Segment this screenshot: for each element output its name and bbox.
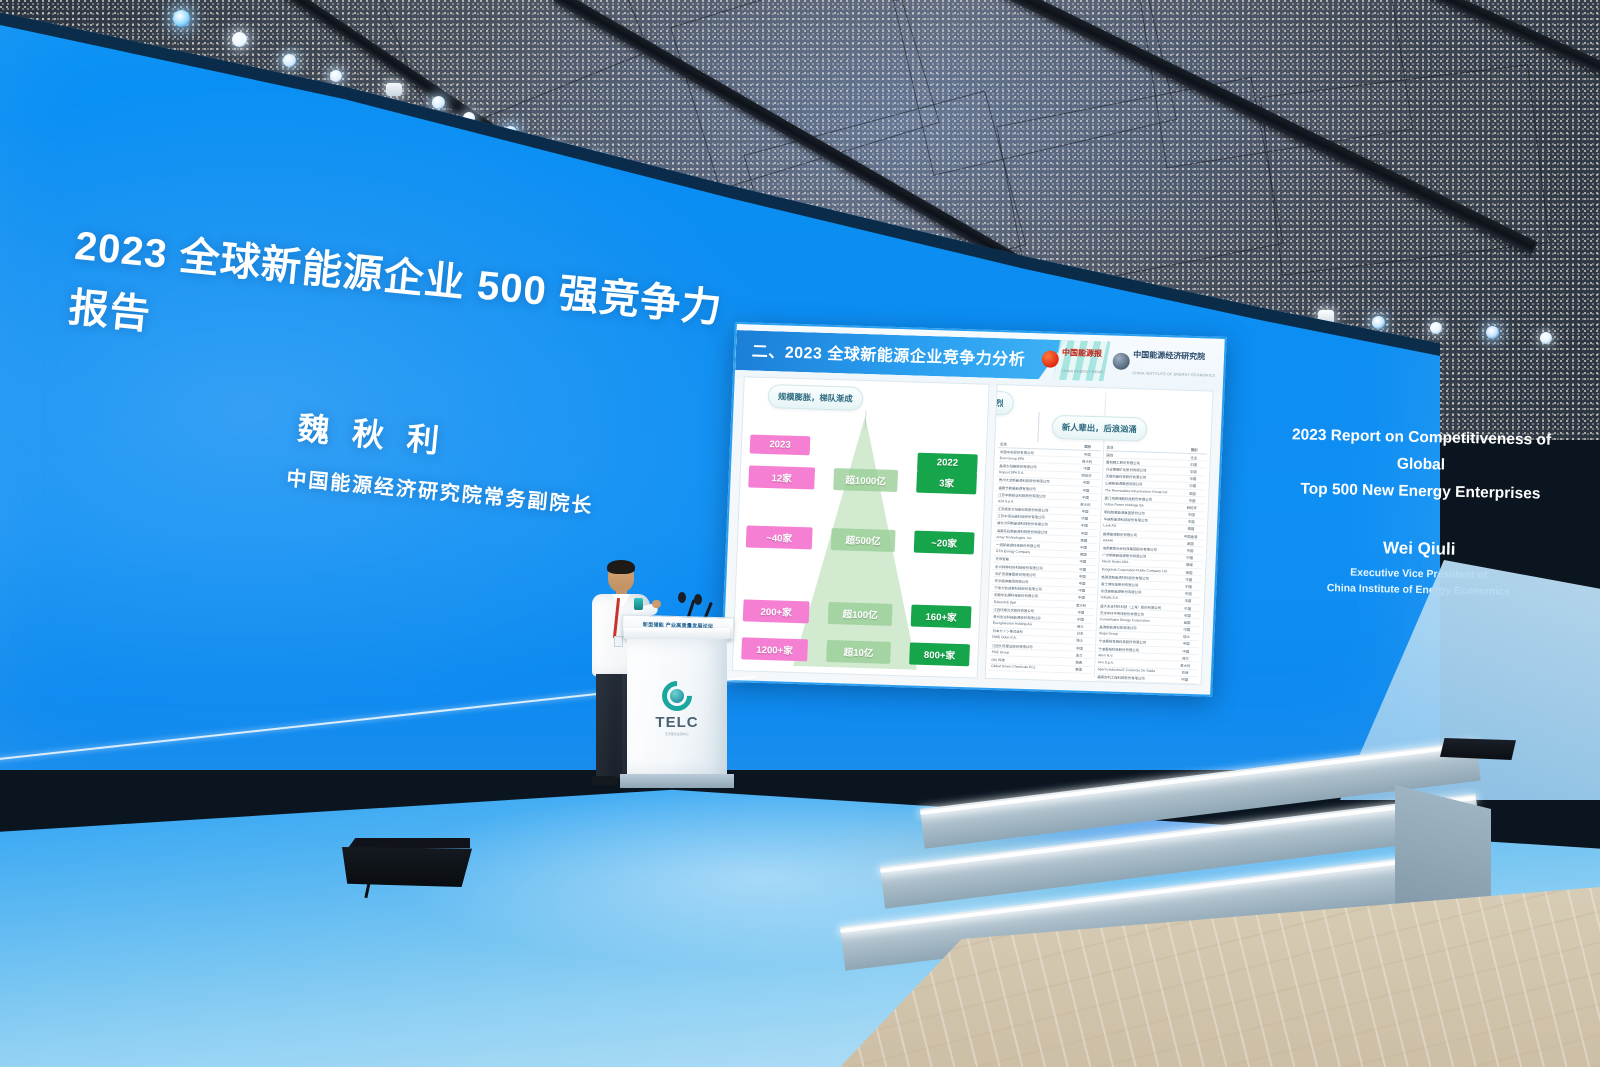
tier-right-count: 160+家 (911, 605, 972, 629)
col-header-country: 国别 (1075, 443, 1101, 449)
logo-china-institute-energy-economics: 中国能源经济研究院 CHINA INSTITUTE OF ENERGY ECON… (1112, 345, 1216, 382)
tier-threshold: 超10亿 (826, 640, 891, 664)
company-country: 中国 (1072, 508, 1098, 514)
company-country: 意大利 (1074, 458, 1100, 464)
company-country: 德国 (1178, 526, 1204, 532)
company-country: 中国 (1180, 476, 1206, 482)
backdrop-title-en-line2: Top 500 New Energy Enterprises (1270, 475, 1571, 508)
company-country: 美国 (1071, 537, 1097, 543)
telc-globe-icon (662, 681, 692, 711)
company-country: 美国 (1174, 619, 1200, 625)
company-country: 泰国 (1176, 569, 1202, 575)
ceiling-panel (1260, 64, 1550, 276)
pyramid-tier-row: 200+家 超100亿 160+家 (735, 599, 980, 628)
logo-china-energy-news: 中国能源报 CHINA ENERGY NEWS (1041, 342, 1105, 377)
company-country: 挪威 (1176, 562, 1202, 568)
speaker-podium: 新型储能 产业高质量发展论坛 暨第十三届全球新能源企业 500 强峰会 NEW … (627, 628, 727, 788)
company-table-column-1: 企业 国别 中国中车股份有限公司中国Enel Group SPA意大利晶澳太阳能… (989, 440, 1101, 681)
stage-floor-monitor (342, 838, 472, 892)
company-country: 中国 (1071, 530, 1097, 536)
company-country: 中国 (1172, 677, 1198, 683)
company-country: 中国 (1179, 497, 1205, 503)
company-country: 中国 (1175, 591, 1201, 597)
company-rows-2: 国别企业嘉和精工股份有限公司中国兴业银锡矿业股份有限公司中国天顺风能科技股份有限… (1095, 451, 1207, 684)
backdrop-title-en-line1: 2023 Report on Competitiveness of Global (1271, 421, 1572, 482)
pyramid-header-spacer (834, 443, 894, 453)
speaker-shoe (592, 776, 618, 785)
company-country: 瑞士 (1067, 623, 1093, 629)
telc-globe-dot (670, 689, 684, 703)
company-country: 中国 (1178, 512, 1204, 518)
backdrop-english-block: 2023 Report on Competitiveness of Global… (1268, 421, 1572, 602)
stage-light (386, 83, 402, 96)
company-country: 中国 (1173, 641, 1199, 647)
company-country: 美国 (1177, 540, 1203, 546)
tier-threshold: 超100亿 (828, 602, 893, 626)
speaker-badge (614, 636, 623, 647)
monitor-top (348, 838, 470, 848)
company-rows-1: 中国中车股份有限公司中国Enel Group SPA意大利晶澳太阳能股份有限公司… (989, 448, 1101, 674)
company-country: 日本 (1067, 631, 1093, 637)
company-country: 中国 (1174, 627, 1200, 633)
tier-threshold: 超1000亿 (833, 468, 898, 492)
presentation-slide: 二、2023 全球新能源企业竞争力分析 中国能源报 CHINA ENERGY N… (720, 322, 1227, 697)
monitor-body (342, 847, 472, 887)
company-table-column-2: 企业 国别 国别企业嘉和精工股份有限公司中国兴业银锡矿业股份有限公司中国天顺风能… (1095, 443, 1207, 684)
stage-light (1486, 326, 1499, 339)
tier-left-count: ~40家 (746, 525, 813, 549)
company-country: 法国 (1175, 598, 1201, 604)
tier-left-count: 200+家 (743, 599, 810, 623)
company-country: 中国 (1177, 548, 1203, 554)
slide-heading-band: 二、2023 全球新能源企业竞争力分析 (735, 330, 1067, 380)
company-country: 波兰 (1066, 652, 1092, 658)
company-country: 中国 (1068, 595, 1094, 601)
tier-left-count: 12家 (748, 465, 815, 489)
company-country: 中国香港 (1178, 533, 1204, 539)
telc-logo-text: TELC (627, 714, 727, 731)
podium-body: TELC 天津国家会展中心 (627, 639, 727, 774)
speaker-hand (652, 600, 661, 608)
backdrop-title-en: 2023 Report on Competitiveness of Global… (1270, 421, 1572, 509)
company-country: 中国 (1175, 584, 1201, 590)
logo-en-text: CHINA INSTITUTE OF ENERGY ECONOMICS (1132, 371, 1215, 378)
stage-light (1430, 322, 1442, 334)
company-country: 中国 (1070, 559, 1096, 565)
podium-top-surface (624, 628, 730, 639)
microphone-head-icon (678, 592, 686, 603)
pyramid-tier-row: ~40家 超500亿 ~20家 (738, 525, 983, 554)
company-country: 巴西 (1172, 670, 1198, 676)
company-country: 中国 (1073, 494, 1099, 500)
company-country: 西班牙 (1179, 505, 1205, 511)
stage-light (1372, 316, 1385, 329)
company-country: 中国 (1066, 645, 1092, 651)
company-country: 中国 (1178, 519, 1204, 525)
slide-logo-group: 中国能源报 CHINA ENERGY NEWS 中国能源经济研究院 CHINA … (1041, 342, 1216, 381)
company-country: 西班牙 (1073, 473, 1099, 479)
company-country: 中国 (1180, 461, 1206, 467)
company-country: 荷兰 (1172, 655, 1198, 661)
tier-right-count: 3家 (916, 471, 977, 495)
col-header-company: 企业 (1105, 444, 1182, 451)
stage-light (330, 70, 342, 82)
speaker-hair (607, 560, 635, 574)
company-country: 中国 (1069, 587, 1095, 593)
logo-en-text: CHINA ENERGY NEWS (1061, 369, 1103, 374)
company-country: 瑞士 (1173, 634, 1199, 640)
logo-cn-text: 中国能源报 (1062, 348, 1102, 358)
company-country: 企业 (1181, 454, 1207, 460)
stage-light (232, 32, 247, 47)
company-country: 中国 (1069, 573, 1095, 579)
pyramid-tier-row: 1200+家 超10亿 800+家 (733, 637, 978, 666)
company-name: Global Green Chemicals PCL (989, 664, 1066, 671)
telc-logo: TELC 天津国家会展中心 (627, 681, 727, 736)
col-header-country: 国别 (1181, 447, 1207, 453)
institute-seal-icon (1113, 353, 1131, 371)
company-country: 意大利 (1172, 663, 1198, 669)
slide-body: 规模膨胀，梯队渐成 2023 2022 12家 超1000亿 3家 ~4 (732, 376, 1214, 685)
pyramid-panel: 规模膨胀，梯队渐成 2023 2022 12家 超1000亿 3家 ~4 (732, 376, 990, 678)
company-name: 福莱安利工程科技股份有限公司 (1095, 675, 1172, 682)
company-country: 意大利 (1068, 602, 1094, 608)
stage-light (283, 54, 296, 67)
logo-cn-text: 中国能源经济研究院 (1133, 350, 1205, 361)
stage-light (1540, 332, 1552, 344)
company-country: 中国 (1073, 480, 1099, 486)
company-country: 中国 (1176, 576, 1202, 582)
company-country: 中国 (1069, 580, 1095, 586)
company-country: 中国 (1072, 516, 1098, 522)
company-country: 中国 (1174, 612, 1200, 618)
conference-stage-photo: 2023 全球新能源企业 500 强竞争力报告 魏 秋 利 中国能源经济研究院常… (0, 0, 1600, 1067)
floor-equipment-box (1440, 738, 1516, 760)
callout-scale-expansion: 规模膨胀，梯队渐成 (767, 384, 863, 411)
company-country: 中国 (1074, 465, 1100, 471)
company-country: 中国 (1180, 483, 1206, 489)
company-country: 中国 (1070, 544, 1096, 550)
tier-threshold: 超500亿 (831, 528, 896, 552)
company-country: 中国 (1070, 566, 1096, 572)
company-country: 瑞典 (1066, 659, 1092, 665)
company-country: 美国 (1070, 552, 1096, 558)
company-country: 中国 (1175, 605, 1201, 611)
presenter-remote (634, 598, 643, 610)
tier-right-count: ~20家 (914, 531, 975, 555)
slide-section-heading: 二、2023 全球新能源企业竞争力分析 (751, 338, 1025, 370)
company-country: 中国 (1068, 616, 1094, 622)
pyramid-year-left: 2023 (750, 435, 811, 456)
company-country: 中国 (1177, 555, 1203, 561)
company-country: 瑞士 (1067, 638, 1093, 644)
telc-logo-subtitle: 天津国家会展中心 (627, 732, 727, 736)
stage-light (173, 10, 190, 27)
company-country: 英国 (1179, 490, 1205, 496)
company-country: 中国 (1074, 451, 1100, 457)
stage-light (432, 96, 445, 109)
podium-base (620, 774, 734, 788)
company-country: 中国 (1180, 469, 1206, 475)
company-country: 意大利 (1072, 501, 1098, 507)
china-energy-news-mark-icon (1041, 351, 1059, 369)
company-country: 泰国 (1065, 666, 1091, 672)
company-country: 中国 (1173, 648, 1199, 654)
company-list-panel: 规模剧增，竞争激烈 新人辈出，后浪汹涌 企业 国别 中国中车股份有限公司中国En… (985, 384, 1214, 685)
tier-left-count: 1200+家 (741, 637, 808, 661)
speaker-leg (596, 674, 617, 778)
backdrop-speaker-name-en: Wei Qiuli (1269, 536, 1569, 562)
tier-right-count: 800+家 (909, 642, 970, 666)
callout-newcomers: 新人辈出，后浪汹涌 (1051, 415, 1147, 442)
company-country: 中国 (1071, 523, 1097, 529)
company-country: 中国 (1068, 609, 1094, 615)
microphone-head-icon (694, 594, 702, 605)
company-country: 中国 (1073, 487, 1099, 493)
